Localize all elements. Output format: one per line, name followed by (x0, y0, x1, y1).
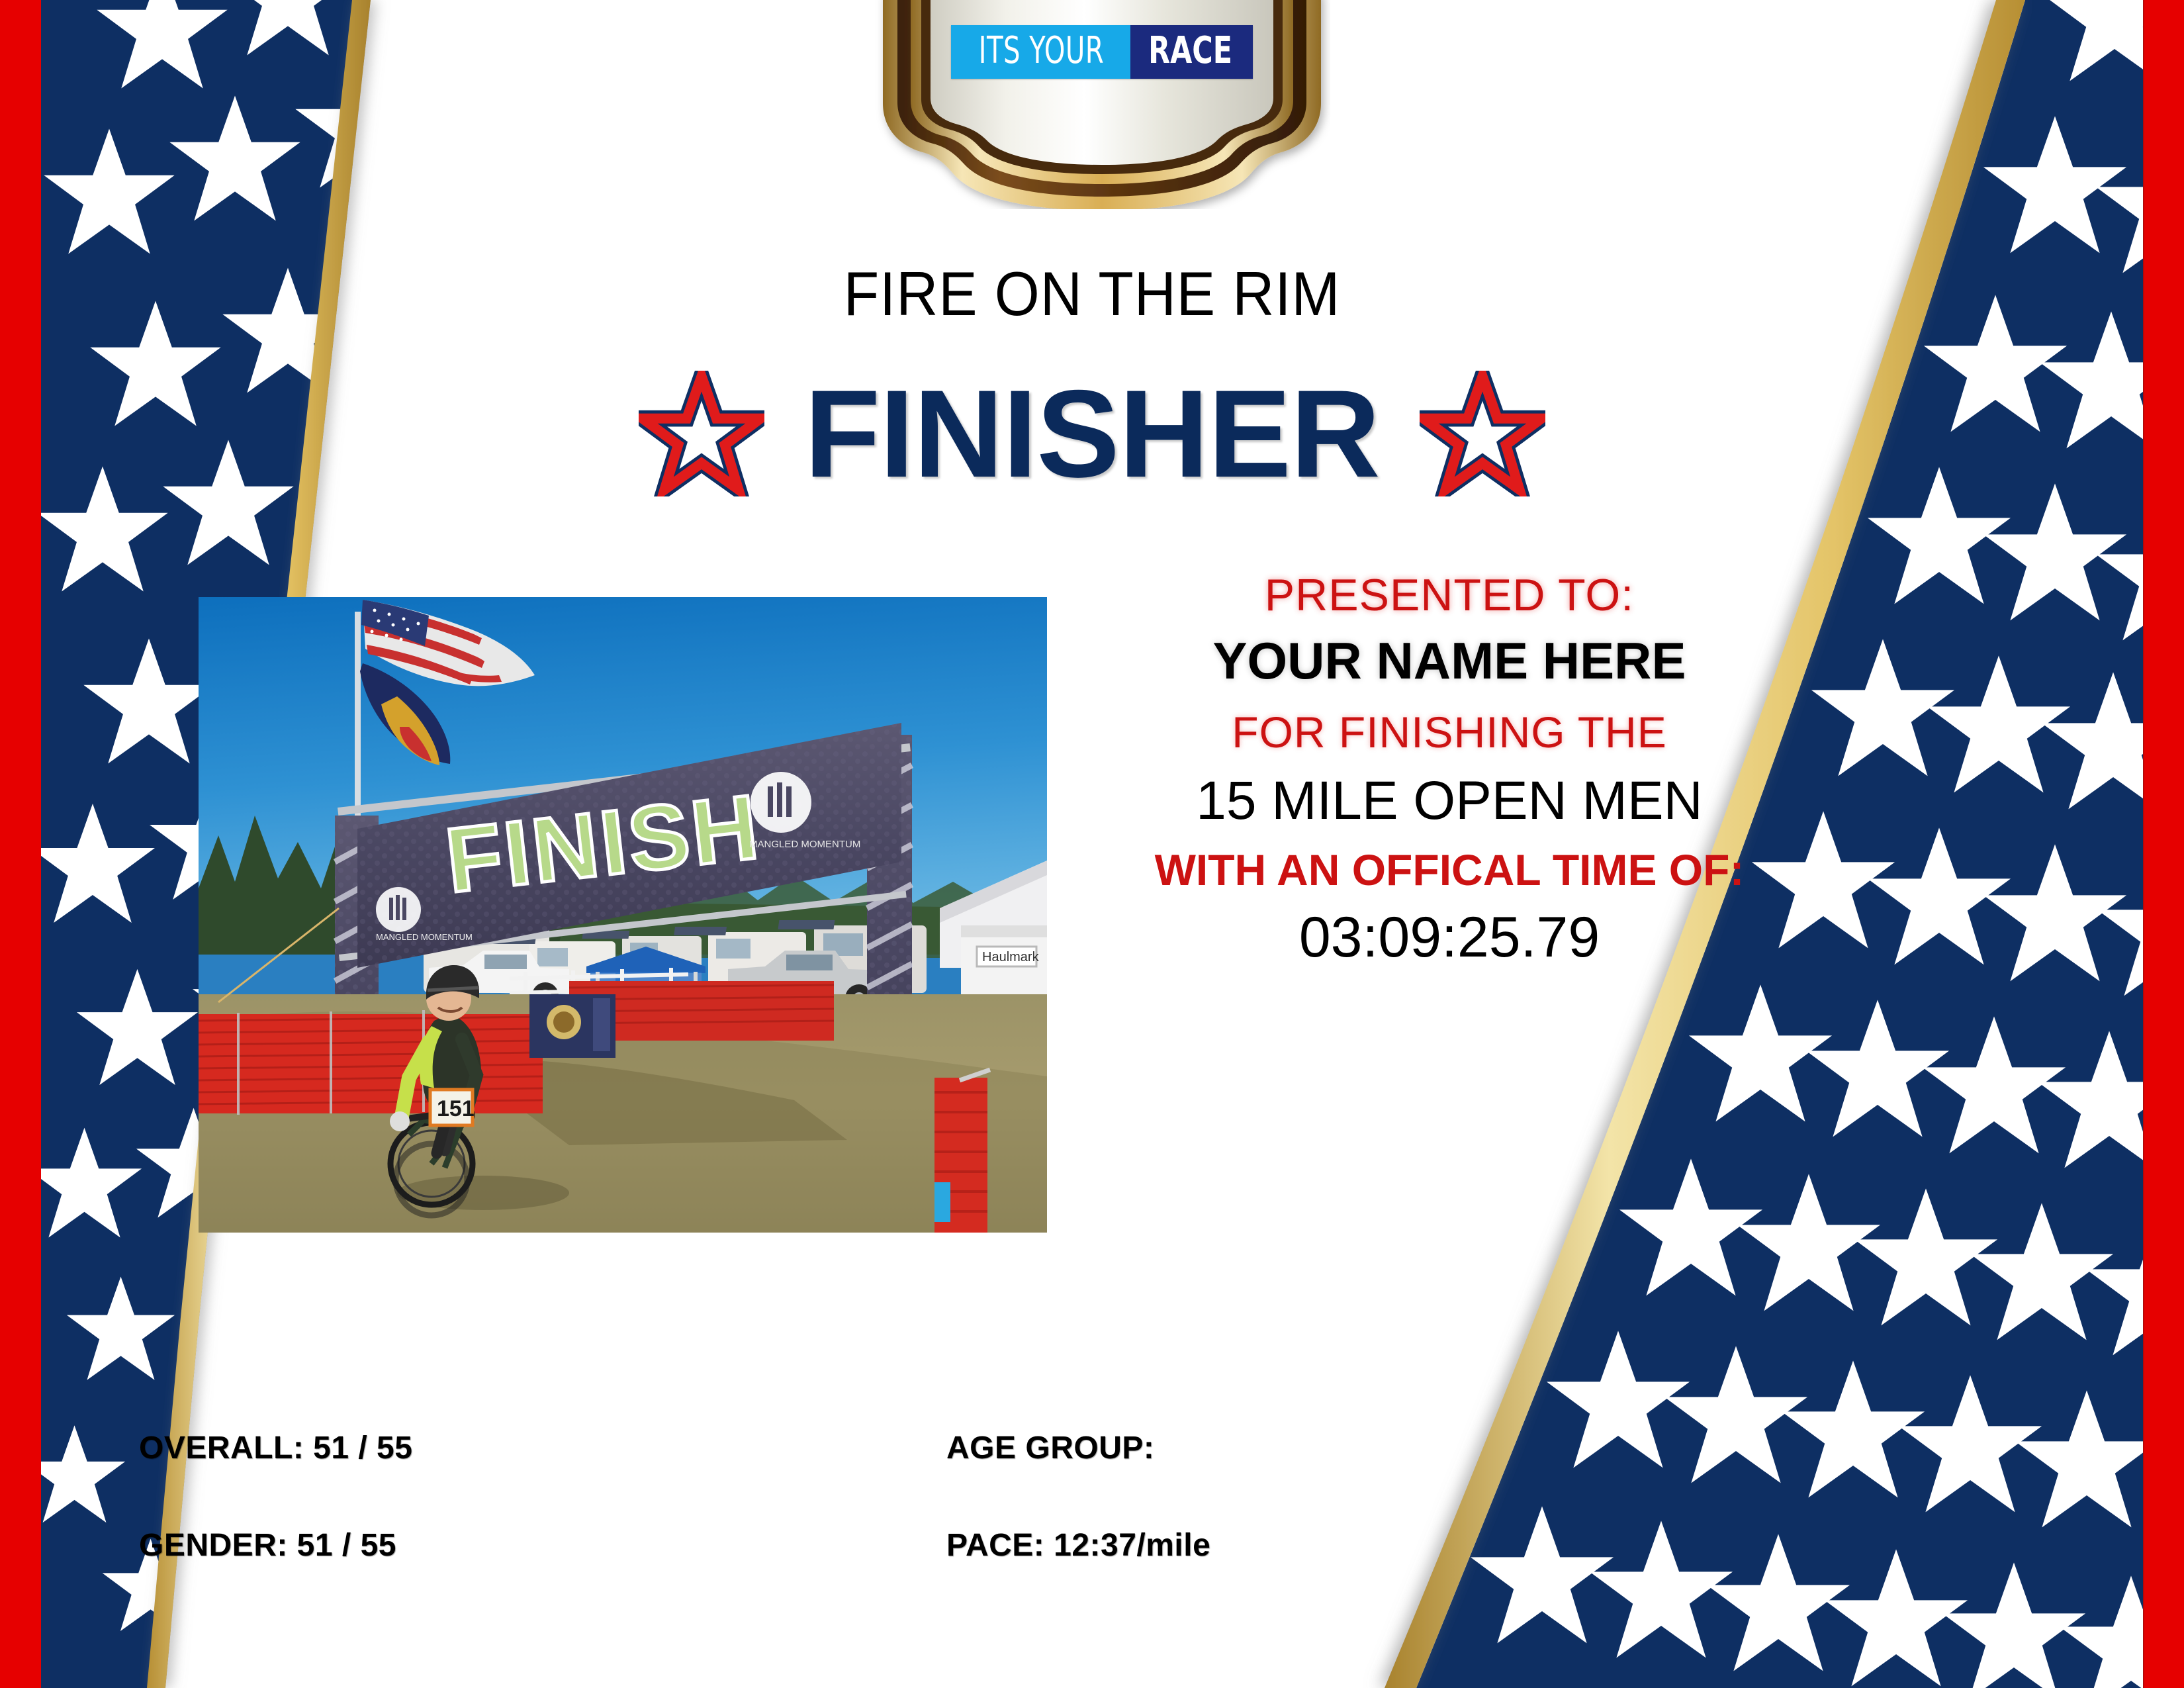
finisher-certificate: ITS YOUR RACE FIRE ON THE RIM FINISHER (0, 0, 2184, 1688)
stats-row: GENDER: 51 / 55 PACE: 12:37/mile (139, 1527, 1330, 1564)
official-time-label: WITH AN OFFICAL TIME OF: (1099, 848, 1800, 892)
event-name: 15 MILE OPEN MEN (1099, 774, 1800, 828)
for-finishing-label: FOR FINISHING THE (1099, 710, 1800, 754)
award-title-row: FINISHER (0, 357, 2184, 510)
stat-pace: PACE: 12:37/mile (946, 1527, 1330, 1564)
logo-race-panel: RACE (1130, 25, 1253, 79)
left-red-strip (0, 0, 41, 1688)
stats-row: OVERALL: 51 / 55 AGE GROUP: (139, 1430, 1330, 1466)
award-details: PRESENTED TO: YOUR NAME HERE FOR FINISHI… (1099, 573, 1800, 966)
stat-gender: GENDER: 51 / 55 (139, 1527, 946, 1564)
bib-number: 151 (437, 1096, 475, 1121)
right-red-strip (2143, 0, 2184, 1688)
race-title: FIRE ON THE RIM (77, 258, 2108, 330)
right-star-icon (1420, 371, 1545, 496)
logo-its-your-panel: ITS YOUR (951, 25, 1130, 79)
stat-overall: OVERALL: 51 / 55 (139, 1430, 946, 1466)
recipient-name: YOUR NAME HERE (1099, 635, 1800, 686)
svg-text:MANGLED MOMENTUM: MANGLED MOMENTUM (749, 839, 860, 850)
presented-to-label: PRESENTED TO: (1099, 573, 1800, 618)
logo-its-your-text: ITS YOUR (979, 29, 1104, 72)
finish-time: 03:09:25.79 (1099, 909, 1800, 966)
its-your-race-wordmark: ITS YOUR RACE (951, 25, 1253, 79)
left-star-icon (639, 371, 764, 496)
its-your-race-badge: ITS YOUR RACE (874, 0, 1330, 209)
stat-age-group: AGE GROUP: (946, 1430, 1330, 1466)
logo-race-text: RACE (1148, 29, 1232, 72)
svg-text:MANGLED MOMENTUM: MANGLED MOMENTUM (376, 932, 473, 942)
svg-text:Haulmark: Haulmark (982, 950, 1040, 964)
finish-line-photo: Haulmark (199, 597, 1047, 1233)
award-title: FINISHER (804, 371, 1379, 496)
result-stats: OVERALL: 51 / 55 AGE GROUP: GENDER: 51 /… (139, 1430, 1330, 1564)
